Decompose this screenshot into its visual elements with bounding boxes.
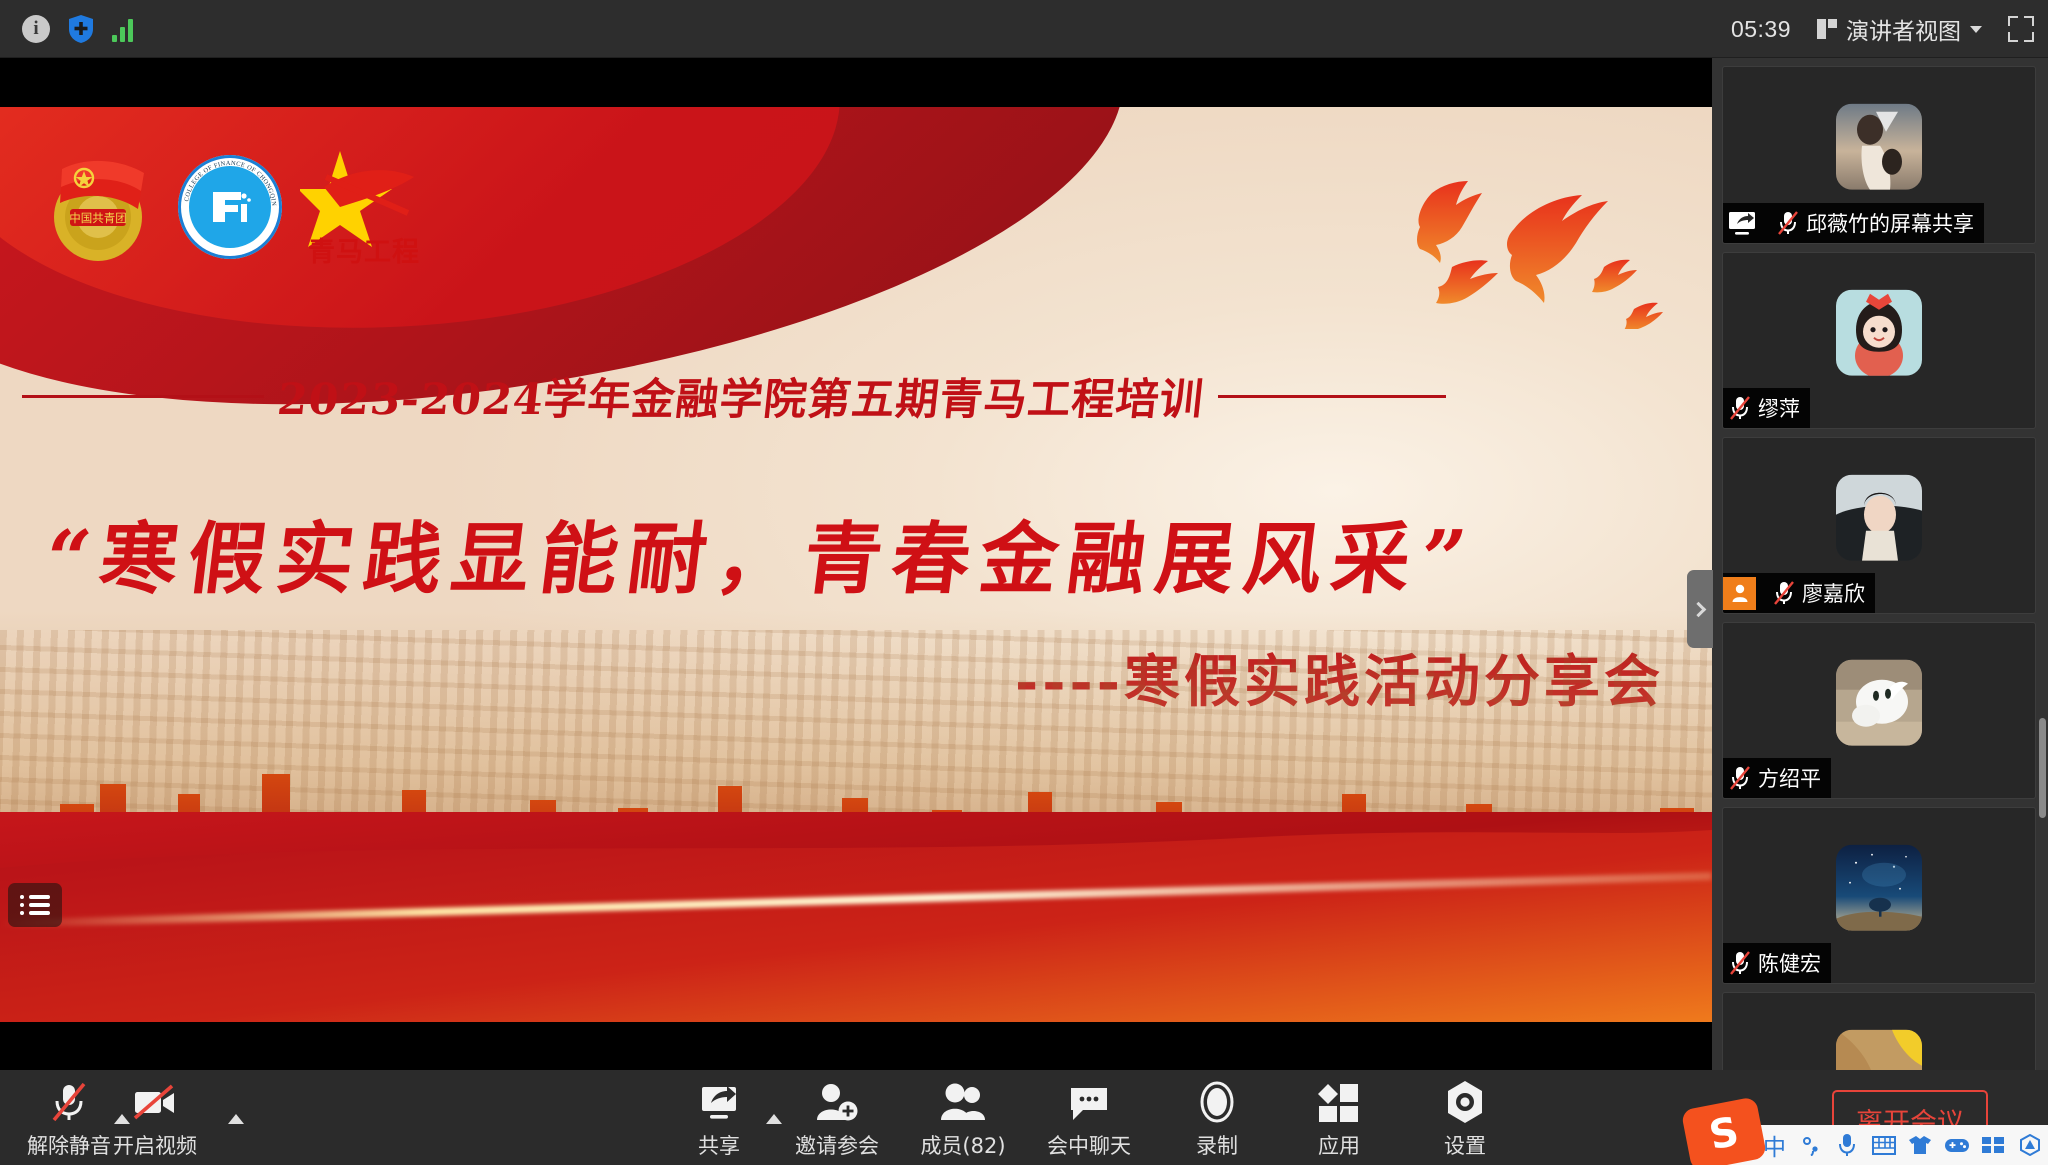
top-bar: i 05:39 演讲者视图 (0, 0, 2048, 58)
network-signal-icon[interactable] (112, 16, 133, 42)
chat-label: 会中聊天 (1047, 1130, 1131, 1160)
slide-subheading: 2023-2024学年金融学院第五期青马工程培训 (261, 365, 1222, 427)
apps-grid-icon (1317, 1078, 1361, 1124)
punctuation-toggle-icon[interactable] (1793, 1125, 1829, 1165)
doves-decoration-icon (1386, 159, 1666, 329)
ime-settings-icon[interactable] (2012, 1125, 2048, 1165)
view-mode-selector[interactable]: 演讲者视图 (1817, 12, 1982, 46)
settings-label: 设置 (1444, 1130, 1486, 1160)
participant-name-bar: 缪萍 (1723, 388, 1810, 428)
participant-tile[interactable]: 缪萍 (1722, 252, 2036, 429)
participant-name: 方绍平 (1758, 763, 1821, 793)
voice-input-icon[interactable] (1829, 1125, 1865, 1165)
participant-name-bar: 陈健宏 (1723, 943, 1831, 983)
apps-label: 应用 (1318, 1130, 1360, 1160)
record-label: 录制 (1196, 1130, 1238, 1160)
avatar (1836, 1030, 1922, 1070)
rule-right (1218, 395, 1446, 398)
qingma-logo-text: 青马工程 (308, 230, 420, 269)
participant-tile[interactable]: 廖嘉欣 (1722, 437, 2036, 614)
settings-button[interactable]: 设置 (1410, 1078, 1520, 1160)
sidebar-scrollbar[interactable] (2039, 718, 2046, 818)
participant-name-bar: 方绍平 (1723, 758, 1831, 798)
record-circle-icon (1196, 1078, 1238, 1124)
game-mode-icon[interactable] (1939, 1125, 1975, 1165)
view-mode-label: 演讲者视图 (1846, 12, 1961, 46)
share-options-caret[interactable] (766, 1114, 782, 1124)
youth-league-emblem-icon: 中国共青团 (40, 147, 160, 267)
college-seal-icon: COLLEGE OF FINANCE OF CHONGQING TECH & B… (178, 155, 282, 259)
meeting-window: i 05:39 演讲者视图 (0, 0, 2048, 1165)
participant-tile[interactable]: 陈健宏 (1722, 807, 2036, 984)
svg-text:中国共青团: 中国共青团 (69, 211, 127, 225)
mic-off-icon (47, 1078, 91, 1124)
rule-left (22, 395, 264, 398)
gear-icon (1444, 1078, 1486, 1124)
top-bar-left-icons: i (12, 0, 133, 58)
share-label: 共享 (698, 1130, 740, 1160)
meeting-timer: 05:39 (1731, 16, 1791, 43)
avatar (1836, 290, 1922, 376)
participants-label: 成员(82) (920, 1130, 1005, 1160)
slide-outline-button[interactable] (8, 883, 62, 927)
fullscreen-icon[interactable] (2008, 16, 2034, 42)
chevron-right-icon (1691, 601, 1707, 617)
list-icon (20, 891, 50, 919)
participant-name-bar: 廖嘉欣 (1723, 573, 1875, 613)
toolbox-icon[interactable] (1975, 1125, 2011, 1165)
mic-muted-icon (1729, 395, 1751, 421)
mic-muted-icon (1729, 950, 1751, 976)
participant-name: 缪萍 (1758, 393, 1800, 423)
video-options-caret[interactable] (228, 1114, 244, 1124)
qingma-program-logo: 青马工程 (300, 147, 420, 267)
video-off-icon (130, 1078, 180, 1124)
participant-sidebar[interactable]: 邱薇竹的屏幕共享 (1712, 58, 2048, 1070)
security-shield-icon[interactable] (68, 14, 94, 44)
unmute-label: 解除静音 (27, 1130, 111, 1160)
record-button[interactable]: 录制 (1162, 1078, 1272, 1160)
letterbox-top (0, 58, 1712, 107)
shared-screen-stage[interactable]: 中国共青团 COLLEGE OF FINANCE OF CHONGQING TE… (0, 58, 1712, 1070)
chevron-down-icon (1970, 26, 1982, 33)
mic-muted-icon (1729, 765, 1751, 791)
slide-main-title: “寒假实践显能耐，青春金融展风采” (39, 497, 1403, 609)
top-bar-right: 05:39 演讲者视图 (1731, 0, 2034, 58)
skin-theme-icon[interactable] (1902, 1125, 1938, 1165)
invite-label: 邀请参会 (795, 1130, 879, 1160)
participant-name: 廖嘉欣 (1802, 578, 1865, 608)
add-person-icon (815, 1078, 859, 1124)
participant-tile[interactable] (1722, 992, 2036, 1070)
screen-share-icon (1725, 209, 1759, 237)
participant-name-bar: 邱薇竹的屏幕共享 (1723, 203, 1984, 243)
info-icon[interactable]: i (22, 15, 50, 43)
chat-button[interactable]: 会中聊天 (1034, 1078, 1144, 1160)
chat-bubble-icon (1067, 1078, 1111, 1124)
mic-muted-icon (1773, 580, 1795, 606)
slide-logos: 中国共青团 COLLEGE OF FINANCE OF CHONGQING TE… (40, 147, 420, 267)
avatar (1836, 845, 1922, 931)
avatar (1836, 475, 1922, 561)
share-screen-icon (698, 1078, 740, 1124)
sogou-ime-bar[interactable]: S 中 (1702, 1125, 2048, 1165)
soft-keyboard-icon[interactable] (1866, 1125, 1902, 1165)
avatar (1836, 660, 1922, 746)
share-button[interactable]: 共享 (664, 1078, 774, 1160)
participant-name: 陈健宏 (1758, 948, 1821, 978)
start-video-button[interactable]: 开启视频 (100, 1078, 210, 1160)
avatar (1836, 104, 1922, 190)
participant-name: 邱薇竹的屏幕共享 (1806, 208, 1974, 238)
participant-tile[interactable]: 方绍平 (1722, 622, 2036, 799)
start-video-label: 开启视频 (113, 1130, 197, 1160)
people-icon (940, 1078, 986, 1124)
sidebar-collapse-handle[interactable] (1687, 570, 1713, 648)
apps-button[interactable]: 应用 (1284, 1078, 1394, 1160)
speaker-view-icon (1817, 19, 1837, 39)
host-badge-icon (1723, 577, 1756, 610)
mic-muted-icon (1777, 210, 1799, 236)
presentation-slide: 中国共青团 COLLEGE OF FINANCE OF CHONGQING TE… (0, 107, 1712, 1022)
slide-subheading-row: 2023-2024学年金融学院第五期青马工程培训 (22, 365, 1422, 427)
invite-button[interactable]: 邀请参会 (782, 1078, 892, 1160)
participant-tile[interactable]: 邱薇竹的屏幕共享 (1722, 66, 2036, 244)
participants-button[interactable]: 成员(82) (908, 1078, 1018, 1160)
